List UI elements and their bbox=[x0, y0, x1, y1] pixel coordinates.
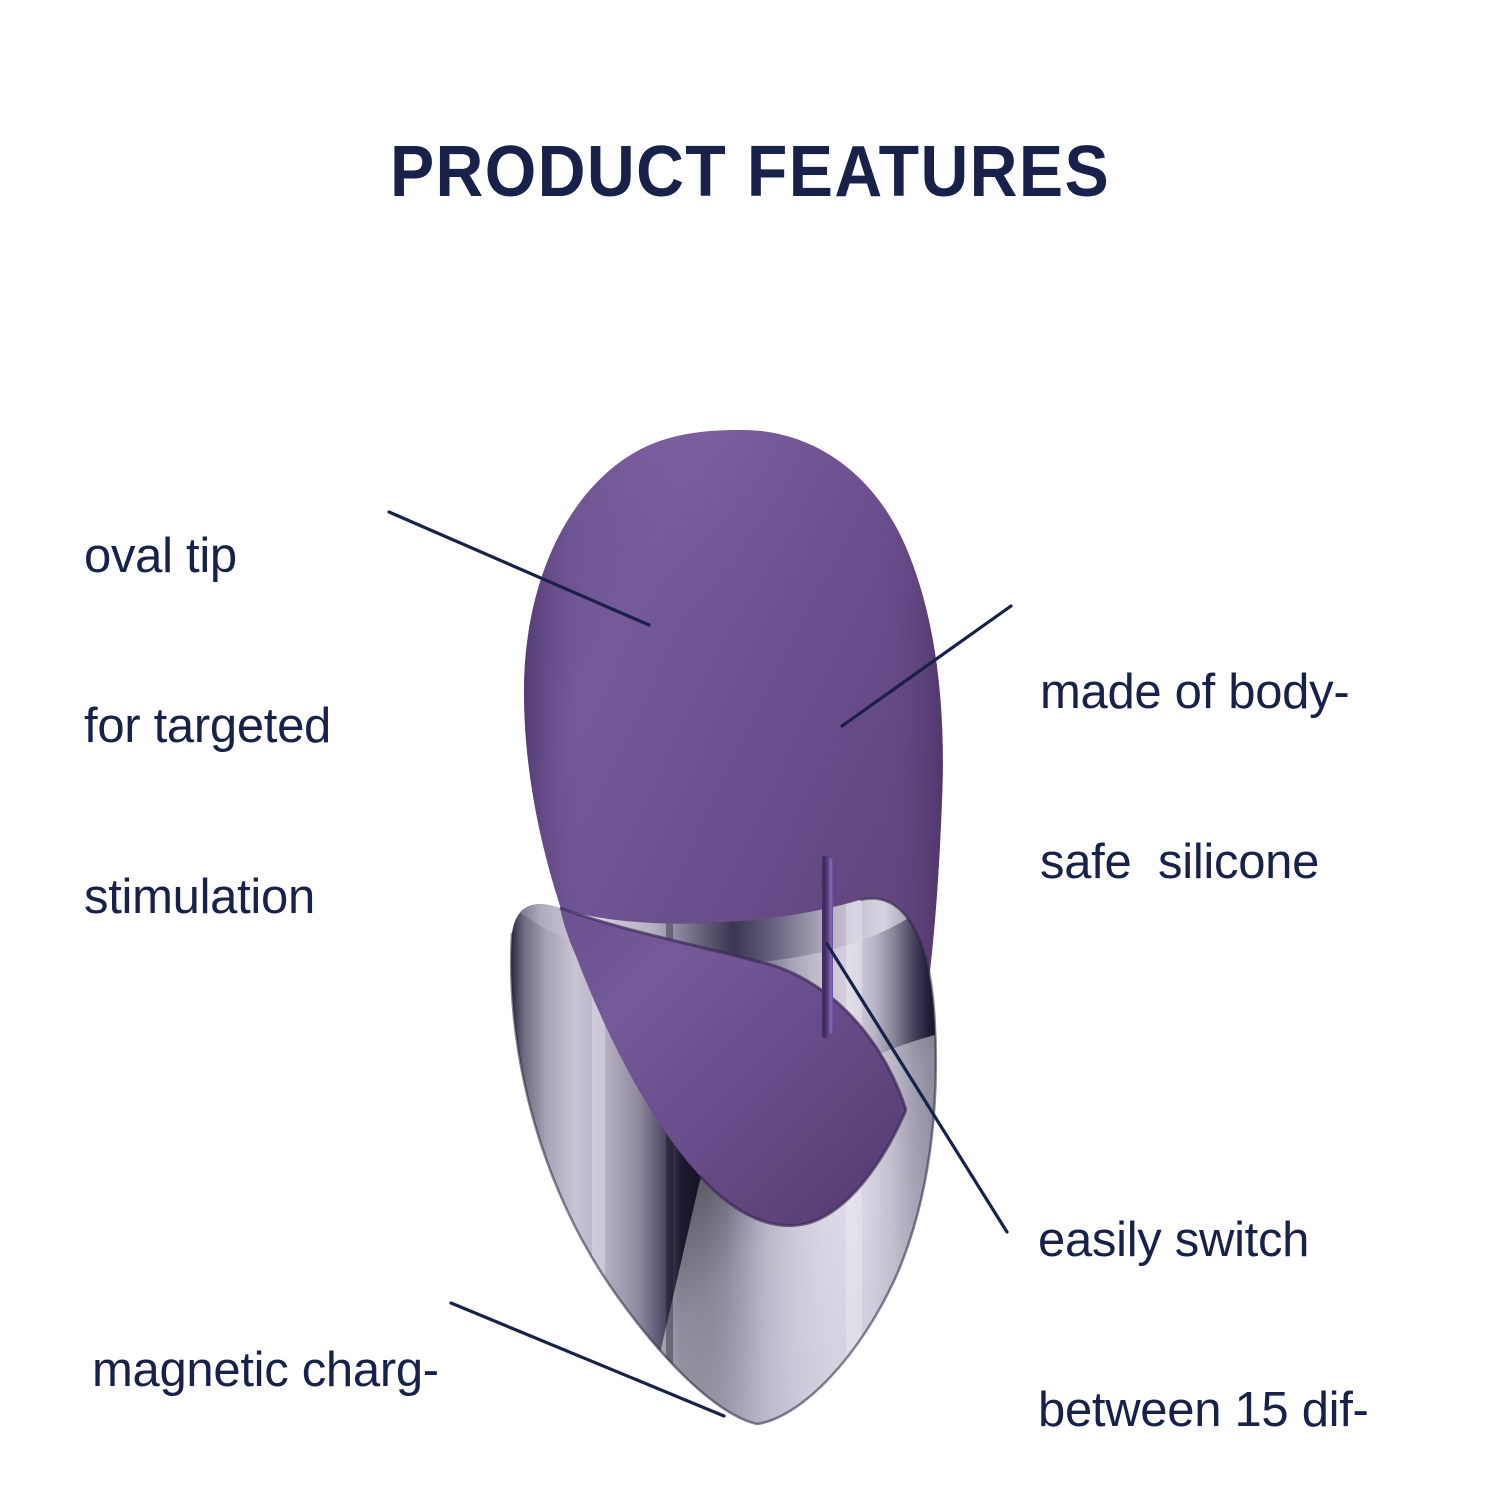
product-features-page: PRODUCT FEATURES bbox=[0, 0, 1500, 1488]
callout-magnetic-line-1: magnetic charg- bbox=[92, 1342, 439, 1399]
callout-oval-tip-line-2: for targeted bbox=[84, 698, 331, 755]
callout-vibration-line-2: between 15 dif- bbox=[1038, 1382, 1369, 1439]
callout-vibration-settings: easily switch between 15 dif- ferent vib… bbox=[1038, 1098, 1369, 1488]
callout-body-safe-line-2: safe silicone bbox=[1040, 834, 1349, 891]
callout-oval-tip-line-3: stimulation bbox=[84, 869, 331, 926]
callout-oval-tip-line-1: oval tip bbox=[84, 528, 331, 585]
callout-oval-tip: oval tip for targeted stimulation bbox=[84, 414, 331, 1039]
callout-magnetic-charging: magnetic charg- ing connection bbox=[92, 1228, 439, 1488]
callout-body-safe-line-1: made of body- bbox=[1040, 664, 1349, 721]
callout-body-safe-silicone: made of body- safe silicone bbox=[1040, 550, 1349, 1005]
callout-vibration-line-1: easily switch bbox=[1038, 1212, 1369, 1269]
